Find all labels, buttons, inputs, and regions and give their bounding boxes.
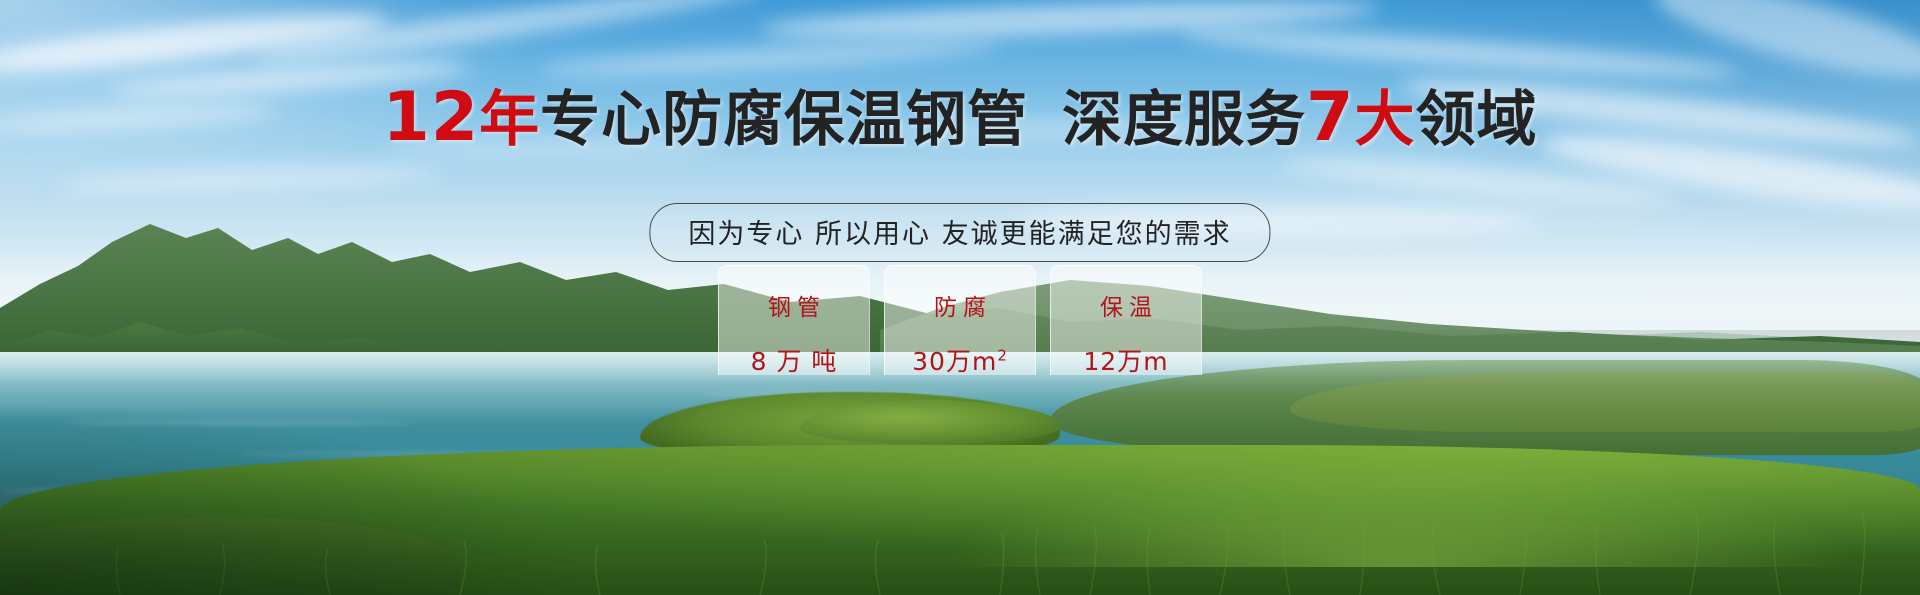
marsh-bank-right-inner <box>1290 372 1920 432</box>
stat-card-label: 钢管 <box>762 288 826 322</box>
headline-focus: 专心防腐保温钢管 <box>540 85 1028 155</box>
page-title: 12年专心防腐保温钢管深度服务7大领域 <box>0 84 1920 152</box>
stat-value-superscript: 2 <box>997 347 1008 365</box>
hero-banner: 12年专心防腐保温钢管深度服务7大领域 因为专心 所以用心 友诚更能满足您的需求… <box>0 0 1920 595</box>
stat-card-label: 保温 <box>1094 288 1158 322</box>
headline-fields-number: 7 <box>1306 78 1354 157</box>
stat-card-anticorrosion: 防腐 30万m2 <box>884 265 1036 375</box>
stat-value-text: 30万m <box>912 347 997 376</box>
headline-service: 深度服务 <box>1062 85 1306 155</box>
headline-fields-unit: 大 <box>1354 85 1415 155</box>
stat-value-text: 12万m <box>1083 347 1168 376</box>
bottom-left-shadow <box>0 395 620 595</box>
stat-card-value: 30万m2 <box>912 342 1008 378</box>
headline-years-unit: 年 <box>479 85 540 155</box>
stat-card-value: 8 万 吨 <box>751 342 838 378</box>
stat-card-insulation: 保温 12万m <box>1050 265 1202 375</box>
subtitle-pill: 因为专心 所以用心 友诚更能满足您的需求 <box>649 203 1270 262</box>
stat-card-label: 防腐 <box>928 288 992 322</box>
stat-card-group: 钢管 8 万 吨 防腐 30万m2 保温 12万m <box>718 265 1202 375</box>
stat-card-value: 12万m <box>1083 342 1168 378</box>
headline-fields: 领域 <box>1415 85 1537 155</box>
stat-card-steel-pipe: 钢管 8 万 吨 <box>718 265 870 375</box>
headline-years-number: 12 <box>383 78 480 157</box>
stat-value-text: 8 万 吨 <box>751 347 838 376</box>
